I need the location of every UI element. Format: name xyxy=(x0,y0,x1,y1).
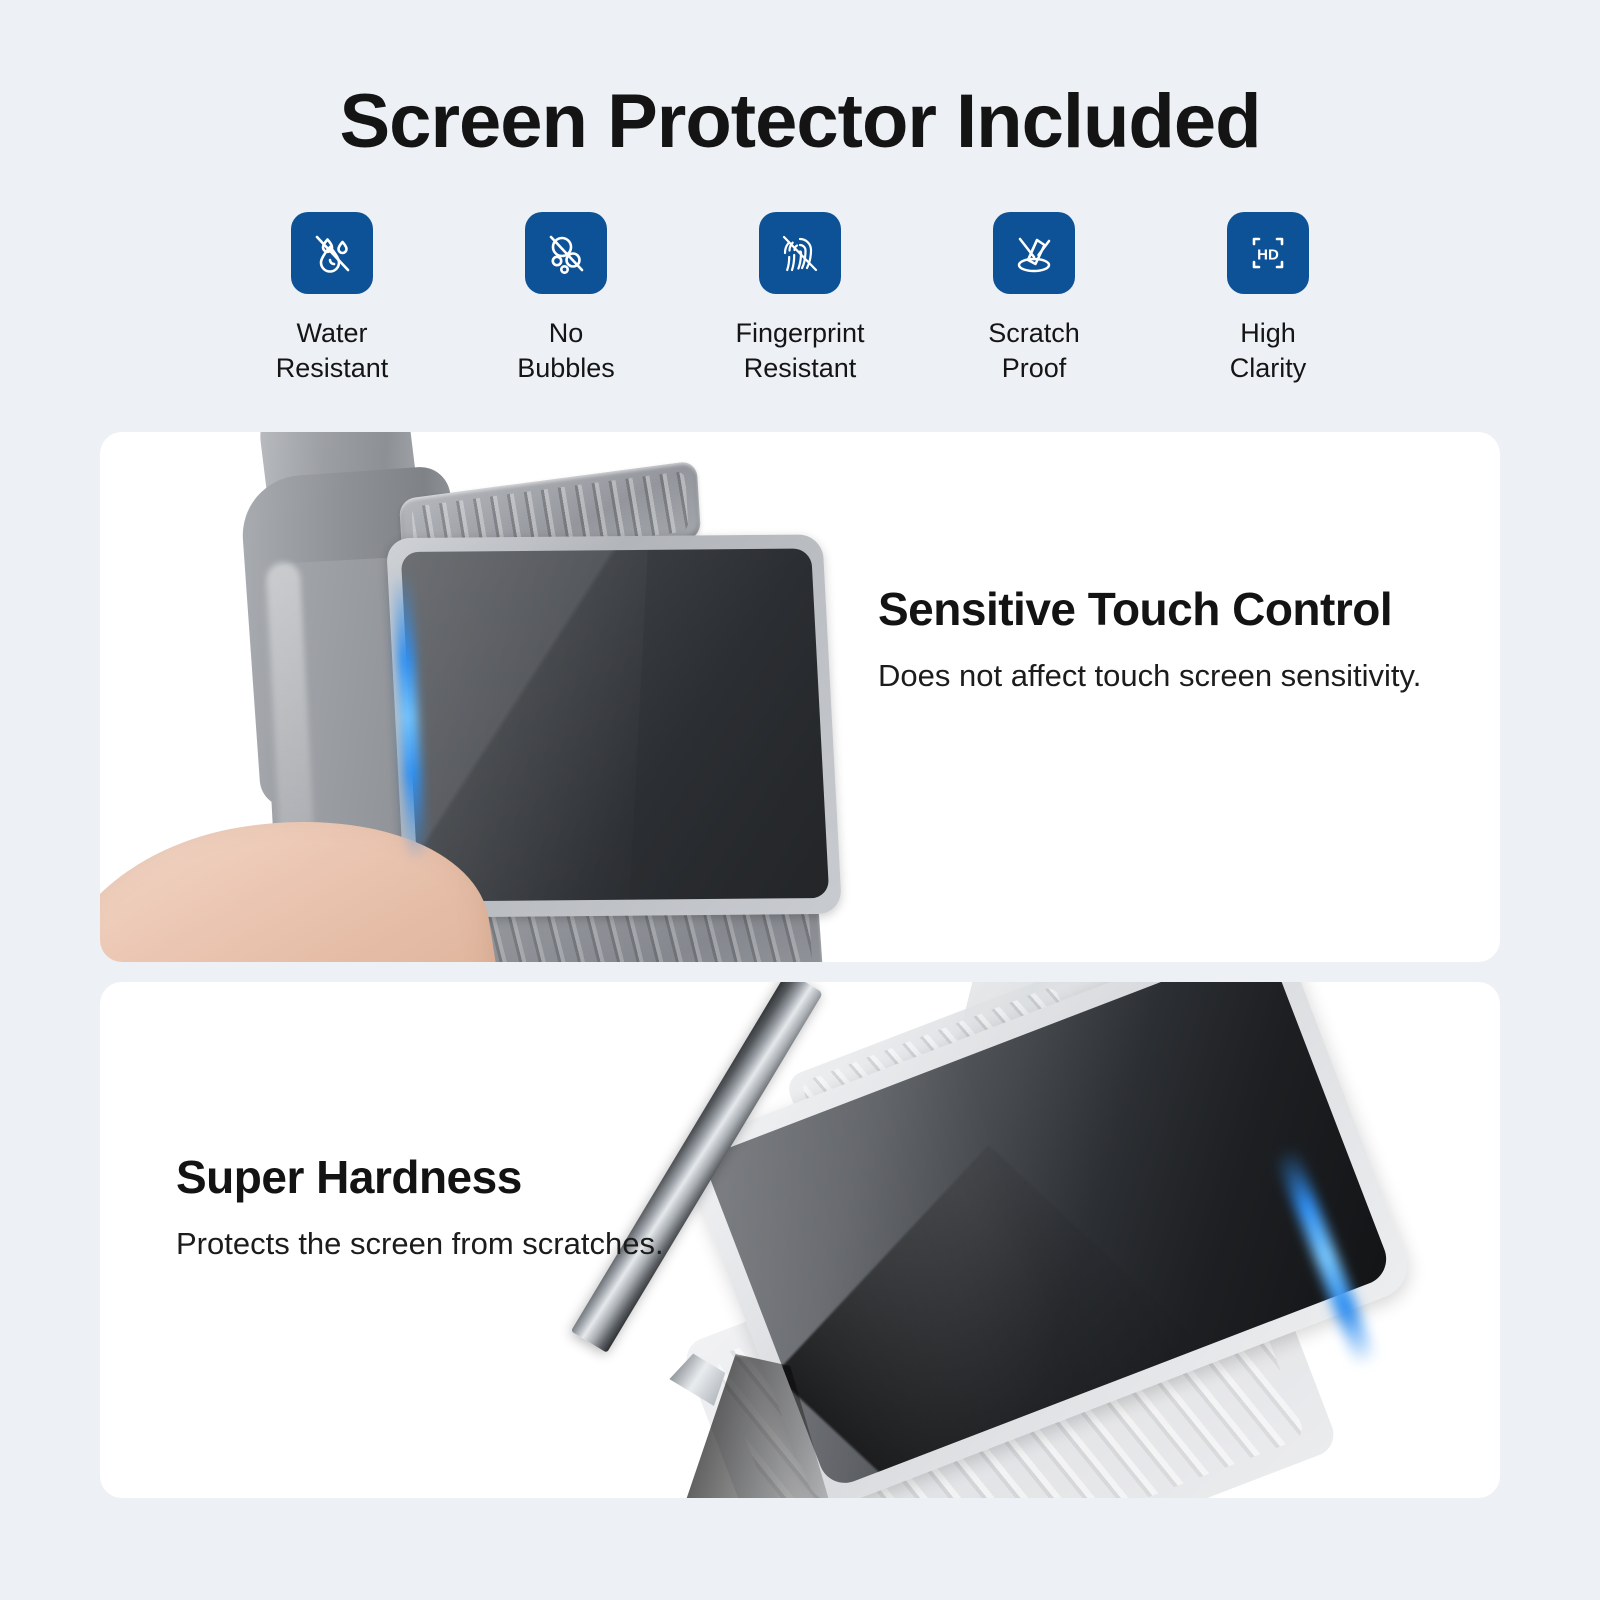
feature-label: High Clarity xyxy=(1230,316,1307,385)
feature-item-no-bubbles: No Bubbles xyxy=(466,212,666,385)
feature-item-high-clarity: HD High Clarity xyxy=(1168,212,1368,385)
card-text-block: Sensitive Touch Control Does not affect … xyxy=(878,584,1421,695)
card-subtitle: Protects the screen from scratches. xyxy=(176,1225,664,1264)
feature-item-scratch-proof: Scratch Proof xyxy=(934,212,1134,385)
feature-label: Water Resistant xyxy=(276,316,389,385)
feature-item-water-resistant: Water Resistant xyxy=(232,212,432,385)
card-text-block: Super Hardness Protects the screen from … xyxy=(176,1152,664,1263)
feature-badge-row: Water Resistant No Bubbles xyxy=(232,212,1368,385)
feature-label: Scratch Proof xyxy=(988,316,1080,385)
card-heading: Super Hardness xyxy=(176,1152,664,1203)
hd-focus-icon: HD xyxy=(1227,212,1309,294)
fingerprint-slash-icon xyxy=(759,212,841,294)
card-heading: Sensitive Touch Control xyxy=(878,584,1421,635)
page-title: Screen Protector Included xyxy=(0,84,1600,160)
feature-item-fingerprint-resistant: Fingerprint Resistant xyxy=(700,212,900,385)
card-subtitle: Does not affect touch screen sensitivity… xyxy=(878,657,1421,696)
feature-card-sensitive-touch: Sensitive Touch Control Does not affect … xyxy=(100,432,1500,962)
feature-card-super-hardness: Super Hardness Protects the screen from … xyxy=(100,982,1500,1498)
water-drop-slash-icon xyxy=(291,212,373,294)
blade-scratch-icon xyxy=(993,212,1075,294)
svg-text:HD: HD xyxy=(1257,247,1279,264)
product-photo-touch-control xyxy=(100,432,1500,962)
bubbles-slash-icon xyxy=(525,212,607,294)
feature-label: No Bubbles xyxy=(517,316,615,385)
feature-label: Fingerprint Resistant xyxy=(735,316,864,385)
